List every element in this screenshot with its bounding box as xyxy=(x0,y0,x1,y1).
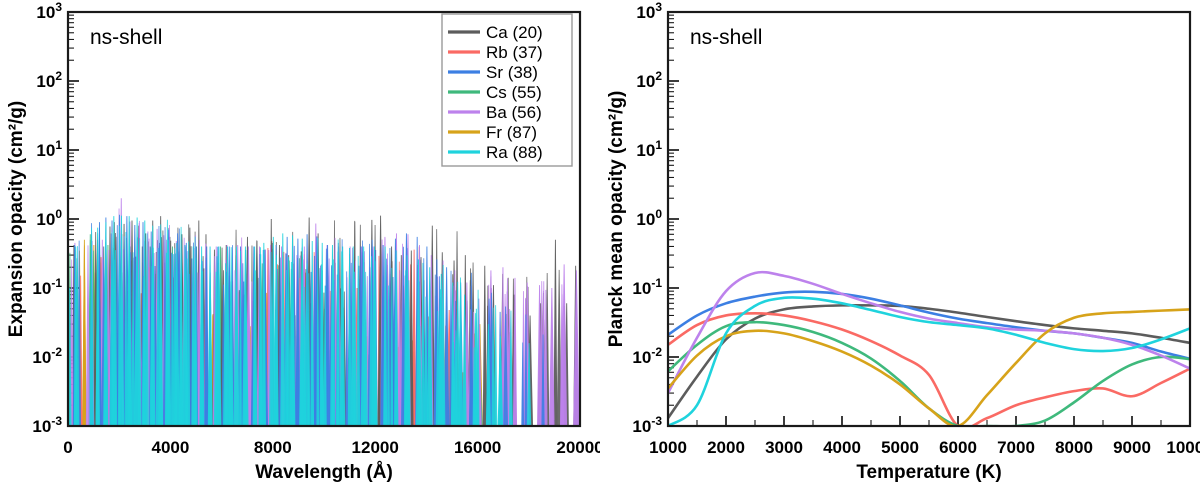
spectral-line xyxy=(311,241,314,426)
spectral-line xyxy=(550,288,555,426)
left-panel-annotation: ns-shell xyxy=(90,26,162,49)
y-tick-label-1e3: 103 xyxy=(636,0,662,22)
legend-label-Ca[interactable]: Ca (20) xyxy=(486,23,543,42)
x-tick-label-16000: 16000 xyxy=(454,438,501,457)
x-tick-label-12000: 12000 xyxy=(352,438,399,457)
y-tick-label-1e-1: 10-1 xyxy=(632,276,662,298)
y-tick-label-1e1: 101 xyxy=(636,138,662,160)
y-tick-label-1e3: 103 xyxy=(36,0,62,22)
figure-root: 10-310-210-11001011021030400080001200016… xyxy=(0,0,1200,491)
x-tick-label-6000: 6000 xyxy=(939,438,977,457)
panel-expansion-opacity: 10-310-210-11001011021030400080001200016… xyxy=(0,0,600,491)
legend-label-Cs[interactable]: Cs (55) xyxy=(486,83,542,102)
right-axis-labels: 10-310-210-11001011021031000200030004000… xyxy=(632,0,1200,457)
y-tick-label-1e-1: 10-1 xyxy=(32,276,62,298)
legend-label-Ba[interactable]: Ba (56) xyxy=(486,103,542,122)
left-xaxis-title: Wavelength (Å) xyxy=(255,462,393,483)
curve-Fr xyxy=(668,309,1190,426)
curve-Sr xyxy=(668,292,1190,359)
y-tick-label-1e2: 102 xyxy=(36,69,62,91)
spectral-line xyxy=(444,267,448,426)
x-tick-label-5000: 5000 xyxy=(881,438,919,457)
x-tick-label-1000: 1000 xyxy=(649,438,687,457)
y-tick-label-1e0: 100 xyxy=(636,207,662,229)
spectral-line xyxy=(494,305,497,426)
curve-Ra xyxy=(668,297,1190,426)
spectral-line xyxy=(83,245,87,426)
spectral-line xyxy=(554,240,557,426)
right-yaxis-title: Planck mean opacity (cm²/g) xyxy=(606,91,627,348)
y-tick-label-1e-2: 10-2 xyxy=(32,345,62,367)
y-tick-label-1e-2: 10-2 xyxy=(632,345,662,367)
x-tick-label-7000: 7000 xyxy=(997,438,1035,457)
spectral-line xyxy=(483,266,486,426)
legend-label-Fr[interactable]: Fr (87) xyxy=(486,123,537,142)
x-tick-label-8000: 8000 xyxy=(1055,438,1093,457)
legend[interactable]: Ca (20)Rb (37)Sr (38)Cs (55)Ba (56)Fr (8… xyxy=(442,14,572,166)
x-tick-label-10000: 10000 xyxy=(1166,438,1200,457)
right-panel-annotation: ns-shell xyxy=(690,26,762,49)
legend-label-Ra[interactable]: Ra (88) xyxy=(486,143,543,162)
x-tick-label-9000: 9000 xyxy=(1113,438,1151,457)
right-plot-frame xyxy=(668,12,1190,426)
x-tick-label-20000: 20000 xyxy=(556,438,600,457)
spectral-line xyxy=(86,245,90,426)
panel-planck-mean-opacity: 10-310-210-11001011021031000200030004000… xyxy=(600,0,1200,491)
x-tick-label-4000: 4000 xyxy=(823,438,861,457)
x-tick-label-3000: 3000 xyxy=(765,438,803,457)
y-tick-label-1e-3: 10-3 xyxy=(32,414,62,436)
legend-label-Sr[interactable]: Sr (38) xyxy=(486,63,538,82)
x-tick-label-4000: 4000 xyxy=(151,438,189,457)
legend-label-Rb[interactable]: Rb (37) xyxy=(486,43,543,62)
right-axes xyxy=(668,12,1190,426)
left-yaxis-title: Expansion opacity (cm²/g) xyxy=(6,101,27,337)
left-spectral-lines xyxy=(68,198,580,426)
x-tick-label-8000: 8000 xyxy=(254,438,292,457)
x-tick-label-2000: 2000 xyxy=(707,438,745,457)
x-tick-label-0: 0 xyxy=(63,438,72,457)
right-curves xyxy=(668,272,1190,428)
y-tick-label-1e2: 102 xyxy=(636,69,662,91)
y-tick-label-1e0: 100 xyxy=(36,207,62,229)
panel-left-svg: 10-310-210-11001011021030400080001200016… xyxy=(0,0,600,491)
y-tick-label-1e-3: 10-3 xyxy=(632,414,662,436)
panel-right-svg: 10-310-210-11001011021031000200030004000… xyxy=(600,0,1200,491)
y-tick-label-1e1: 101 xyxy=(36,138,62,160)
right-xaxis-title: Temperature (K) xyxy=(856,462,1001,483)
